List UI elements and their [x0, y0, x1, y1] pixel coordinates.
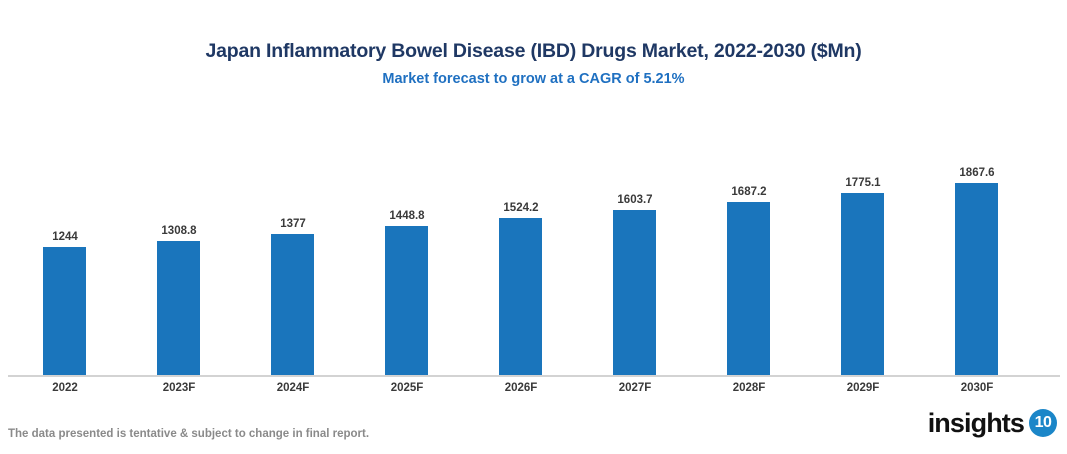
- bar-value-label: 1244: [8, 231, 122, 243]
- bar-item: 1687.2: [692, 0, 806, 375]
- x-axis-label: 2023F: [122, 378, 236, 398]
- bar-item: 1308.8: [122, 0, 236, 375]
- x-axis-tick-labels: 20222023F2024F2025F2026F2027F2028F2029F2…: [0, 378, 1067, 400]
- bar-rect: [727, 202, 770, 375]
- plot-area: 12441308.813771448.81524.21603.71687.217…: [0, 0, 1067, 454]
- x-axis-label: 2024F: [236, 378, 350, 398]
- x-axis-label: 2022: [8, 378, 122, 398]
- bar-rect: [385, 226, 428, 375]
- bar-item: 1867.6: [920, 0, 1034, 375]
- bar-item: 1448.8: [350, 0, 464, 375]
- x-axis-label: 2026F: [464, 378, 578, 398]
- bar-value-label: 1603.7: [578, 194, 692, 206]
- bar-rect: [157, 241, 200, 375]
- bar-item: 1524.2: [464, 0, 578, 375]
- bar-item: 1775.1: [806, 0, 920, 375]
- bar-value-label: 1867.6: [920, 167, 1034, 179]
- bar-series: 12441308.813771448.81524.21603.71687.217…: [0, 0, 1067, 375]
- bar-value-label: 1524.2: [464, 202, 578, 214]
- bar-value-label: 1448.8: [350, 210, 464, 222]
- x-axis-label: 2027F: [578, 378, 692, 398]
- chart-container: Japan Inflammatory Bowel Disease (IBD) D…: [0, 0, 1067, 454]
- bar-rect: [271, 234, 314, 375]
- logo-badge-icon: 10: [1029, 409, 1057, 437]
- bar-value-label: 1775.1: [806, 177, 920, 189]
- x-axis-label: 2028F: [692, 378, 806, 398]
- logo-wordmark: insights: [928, 409, 1024, 437]
- disclaimer-text: The data presented is tentative & subjec…: [8, 428, 369, 440]
- bar-value-label: 1308.8: [122, 225, 236, 237]
- insights10-logo: insights 10: [928, 405, 1057, 441]
- x-axis-label: 2030F: [920, 378, 1034, 398]
- bar-rect: [841, 193, 884, 375]
- bar-value-label: 1687.2: [692, 186, 806, 198]
- bar-rect: [613, 210, 656, 375]
- bar-item: 1603.7: [578, 0, 692, 375]
- bar-rect: [499, 218, 542, 375]
- bar-item: 1377: [236, 0, 350, 375]
- bar-rect: [43, 247, 86, 375]
- x-axis-label: 2029F: [806, 378, 920, 398]
- bar-item: 1244: [8, 0, 122, 375]
- x-axis-line: [8, 375, 1060, 377]
- bar-value-label: 1377: [236, 218, 350, 230]
- x-axis-label: 2025F: [350, 378, 464, 398]
- bar-rect: [955, 183, 998, 375]
